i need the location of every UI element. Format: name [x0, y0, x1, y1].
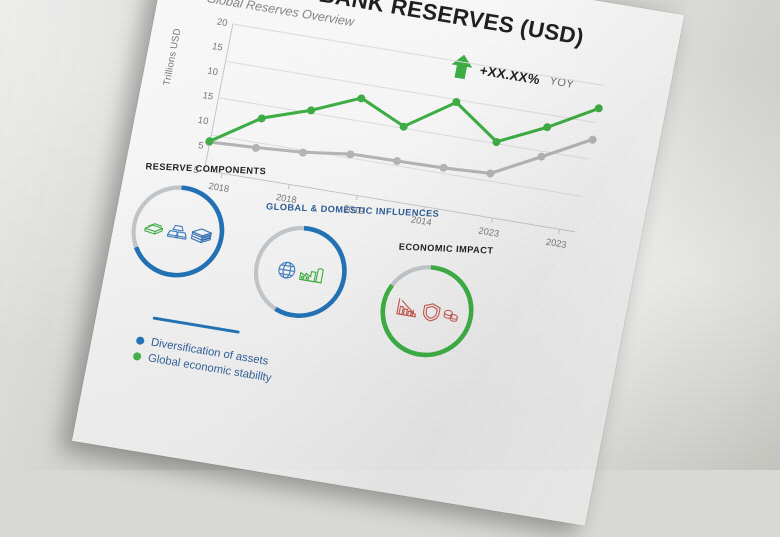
section-block: ECONOMIC IMPACT — [370, 256, 483, 366]
data-point-marker — [594, 104, 604, 113]
legend-color-swatch — [136, 336, 145, 345]
globe-icon — [274, 258, 299, 282]
y-tick-label: 15 — [202, 89, 214, 102]
coins-icon — [441, 307, 460, 323]
x-tick-label: 2023 — [545, 237, 567, 250]
chart-legend: Diversification of assetsGlobal economic… — [132, 330, 276, 384]
cash-stack-icon — [142, 217, 167, 237]
x-tick-mark — [288, 185, 290, 189]
declining-bar-chart-icon — [393, 296, 422, 321]
section-block: RESERVE COMPONENTS — [121, 176, 234, 286]
y-tick-label: 20 — [216, 16, 228, 29]
x-tick-mark — [491, 218, 493, 222]
gold-bars-icon — [165, 220, 190, 242]
infographic-page: CENTRAL BANK RESERVES (USD) Global Reser… — [72, 0, 684, 526]
y-tick-label: 5 — [197, 139, 204, 151]
legend-rule — [152, 316, 239, 333]
x-tick-label: 2023 — [478, 226, 500, 239]
y-axis-title: Trillions USD — [161, 28, 183, 87]
series-line — [209, 78, 592, 203]
paper-sheet-wrapper: CENTRAL BANK RESERVES (USD) Global Reser… — [72, 0, 684, 526]
donut-icon-group — [244, 217, 357, 327]
y-tick-label: 10 — [197, 114, 209, 127]
y-tick-label: 15 — [211, 40, 223, 53]
donut-icon-group — [121, 176, 234, 286]
factory-icon — [297, 262, 326, 285]
y-tick-label: 10 — [207, 65, 219, 78]
x-tick-mark — [558, 230, 560, 234]
section-title: ECONOMIC IMPACT — [398, 242, 493, 256]
section-block: GLOBAL & DOMESTIC INFLUENCES — [244, 217, 357, 327]
banknote-bundle-icon — [189, 224, 214, 246]
paper-sheet: CENTRAL BANK RESERVES (USD) Global Reser… — [72, 0, 684, 526]
donut-icon-group — [370, 256, 483, 366]
legend-items: Diversification of assetsGlobal economic… — [132, 334, 275, 384]
legend-color-swatch — [132, 352, 141, 361]
data-point-marker — [588, 135, 598, 144]
shield-icon — [420, 300, 443, 324]
x-tick-mark — [356, 196, 358, 200]
